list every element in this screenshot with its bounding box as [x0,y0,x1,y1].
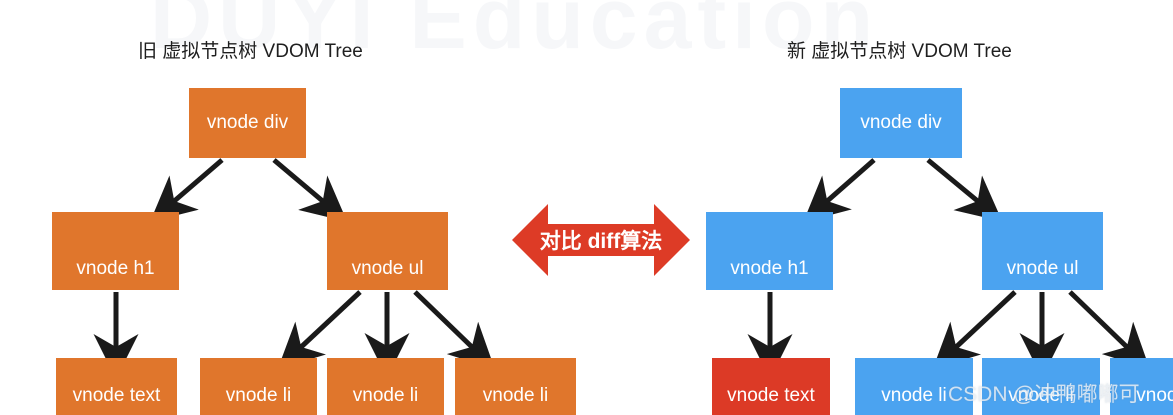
old-node-li-2[interactable]: vnode li [327,358,444,415]
diff-arrow-label: 对比 diff算法 [512,200,690,280]
new-tree-title: 新 虚拟节点树 VDOM Tree [787,36,1012,63]
new-node-text-changed[interactable]: vnode text [712,358,830,415]
new-node-li-2[interactable]: vnode li [982,358,1100,415]
old-node-li-1[interactable]: vnode li [200,358,317,415]
old-tree-title: 旧 虚拟节点树 VDOM Tree [138,36,363,63]
old-node-ul[interactable]: vnode ul [327,212,448,290]
new-node-ul[interactable]: vnode ul [982,212,1103,290]
vdom-diff-diagram: DUYI Education 旧 虚拟节点树 VDOM Tree 新 虚拟节点树… [0,0,1173,415]
diff-comparison-arrow: 对比 diff算法 [512,200,690,280]
new-node-h1[interactable]: vnode h1 [706,212,833,290]
new-node-li-3[interactable]: vnode li [1110,358,1173,415]
old-node-li-3[interactable]: vnode li [455,358,576,415]
new-node-li-1[interactable]: vnode li [855,358,973,415]
old-node-div[interactable]: vnode div [189,88,306,158]
old-node-h1[interactable]: vnode h1 [52,212,179,290]
old-node-text[interactable]: vnode text [56,358,177,415]
new-node-div[interactable]: vnode div [840,88,962,158]
